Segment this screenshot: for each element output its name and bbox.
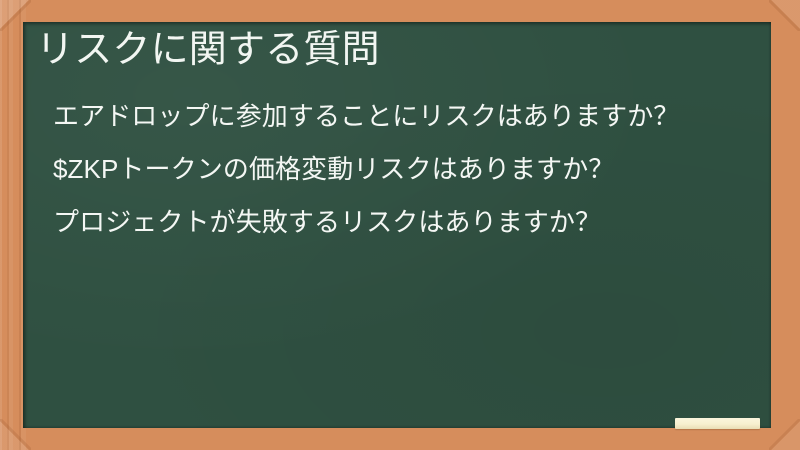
chalk-stick-icon bbox=[675, 418, 760, 429]
slide-title: リスクに関する質問 bbox=[36, 28, 756, 73]
frame-corner-bottom-right bbox=[769, 419, 800, 450]
question-item: プロジェクトが失敗するリスクはありますか？ bbox=[53, 206, 759, 240]
frame-corner-top-right bbox=[769, 0, 800, 31]
question-list: エアドロップに参加することにリスクはありますか？ $ZKPトークンの価格変動リス… bbox=[53, 100, 759, 258]
chalkboard-surface: リスクに関する質問 エアドロップに参加することにリスクはありますか？ $ZKPト… bbox=[23, 22, 771, 428]
question-item: $ZKPトークンの価格変動リスクはありますか？ bbox=[53, 153, 759, 187]
question-item: エアドロップに参加することにリスクはありますか？ bbox=[53, 100, 759, 134]
chalkboard-slide: リスクに関する質問 エアドロップに参加することにリスクはありますか？ $ZKPト… bbox=[0, 0, 800, 450]
